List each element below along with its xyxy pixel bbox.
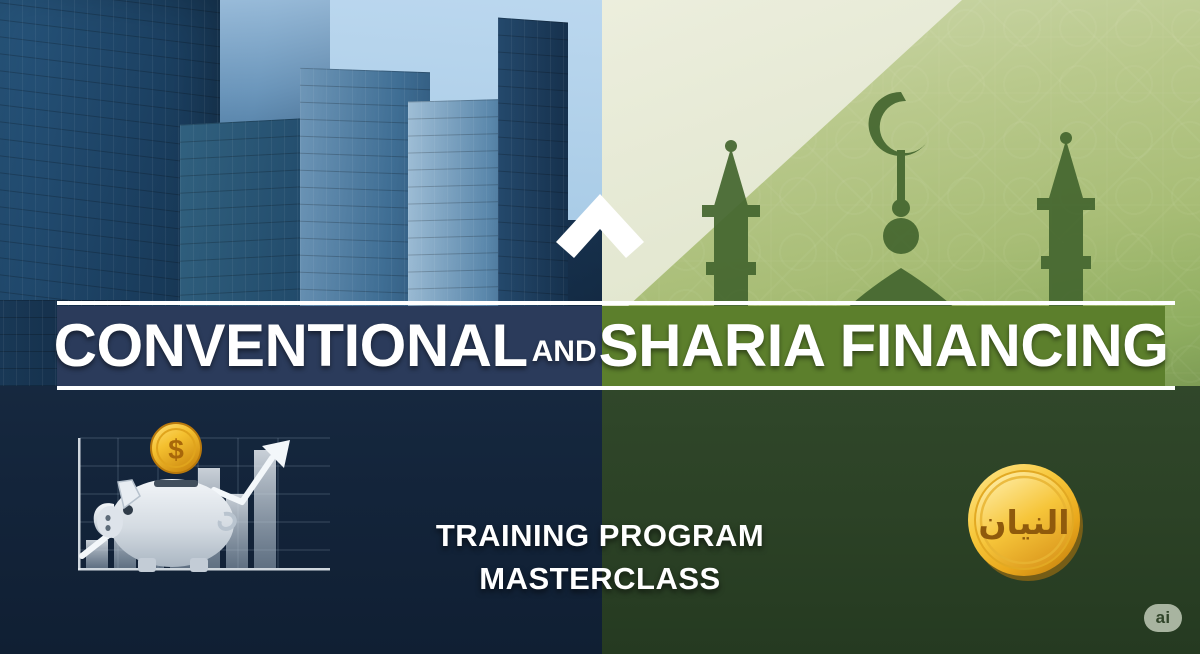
title-conjunction-and: AND: [528, 337, 599, 367]
title-rule-bottom: [57, 386, 1175, 390]
title-part-conventional: CONVENTIONAL: [54, 316, 528, 376]
subtitle-block: TRAINING PROGRAM MASTERCLASS: [380, 515, 820, 601]
svg-text:$: $: [168, 434, 184, 465]
dollar-coin-icon: $: [151, 423, 201, 473]
title-rule-top: [57, 301, 1175, 305]
poster-canvas: CONVENTIONAL AND SHARIA FINANCING TRAINI…: [0, 0, 1200, 654]
piggy-bank-icon: $: [58, 418, 330, 586]
gold-coin-icon: النيان: [962, 458, 1088, 584]
subtitle-line-2: MASTERCLASS: [380, 558, 820, 601]
chevron-up-icon: [552, 188, 648, 264]
ai-watermark-badge: ai: [1144, 604, 1182, 632]
title-part-sharia-financing: SHARIA FINANCING: [599, 316, 1169, 376]
subtitle-line-1: TRAINING PROGRAM: [380, 515, 820, 558]
page-title: CONVENTIONAL AND SHARIA FINANCING: [57, 306, 1165, 386]
ai-watermark-label: ai: [1156, 608, 1171, 628]
coin-arabic-text: النيان: [978, 503, 1069, 542]
crescent-moon-icon: [869, 92, 927, 156]
